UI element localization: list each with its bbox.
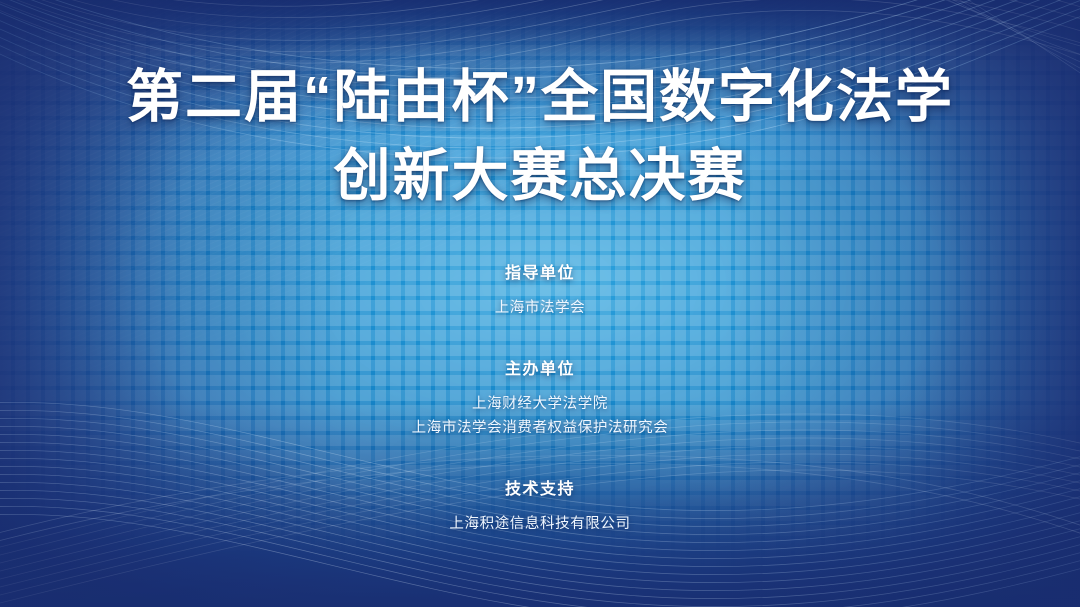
spacer — [0, 461, 1080, 478]
spacer — [0, 383, 1080, 392]
credits-section: 指导单位 上海市法学会 主办单位 上海财经大学法学院 上海市法学会消费者权益保护… — [0, 262, 1080, 537]
spacer — [0, 503, 1080, 512]
title-line-2: 创新大赛总决赛 — [0, 137, 1080, 216]
credit-entry: 上海市法学会消费者权益保护法研究会 — [0, 416, 1080, 441]
poster-canvas: 第二届“陆由杯”全国数字化法学 创新大赛总决赛 指导单位 上海市法学会 主办单位… — [0, 0, 1080, 607]
credit-group-guidance: 指导单位 上海市法学会 — [0, 262, 1080, 321]
credit-heading: 指导单位 — [0, 262, 1080, 287]
poster-title: 第二届“陆由杯”全国数字化法学 创新大赛总决赛 — [0, 58, 1080, 215]
credit-entry: 上海财经大学法学院 — [0, 392, 1080, 417]
spacer — [0, 287, 1080, 296]
poster-content: 第二届“陆由杯”全国数字化法学 创新大赛总决赛 指导单位 上海市法学会 主办单位… — [0, 0, 1080, 607]
credit-entry: 上海市法学会 — [0, 296, 1080, 321]
credit-group-organizer: 主办单位 上海财经大学法学院 上海市法学会消费者权益保护法研究会 — [0, 358, 1080, 442]
credit-entry: 上海积途信息科技有限公司 — [0, 512, 1080, 537]
credit-heading: 技术支持 — [0, 478, 1080, 503]
spacer — [0, 341, 1080, 358]
credit-heading: 主办单位 — [0, 358, 1080, 383]
title-line-1: 第二届“陆由杯”全国数字化法学 — [0, 58, 1080, 137]
credit-group-tech-support: 技术支持 上海积途信息科技有限公司 — [0, 478, 1080, 537]
